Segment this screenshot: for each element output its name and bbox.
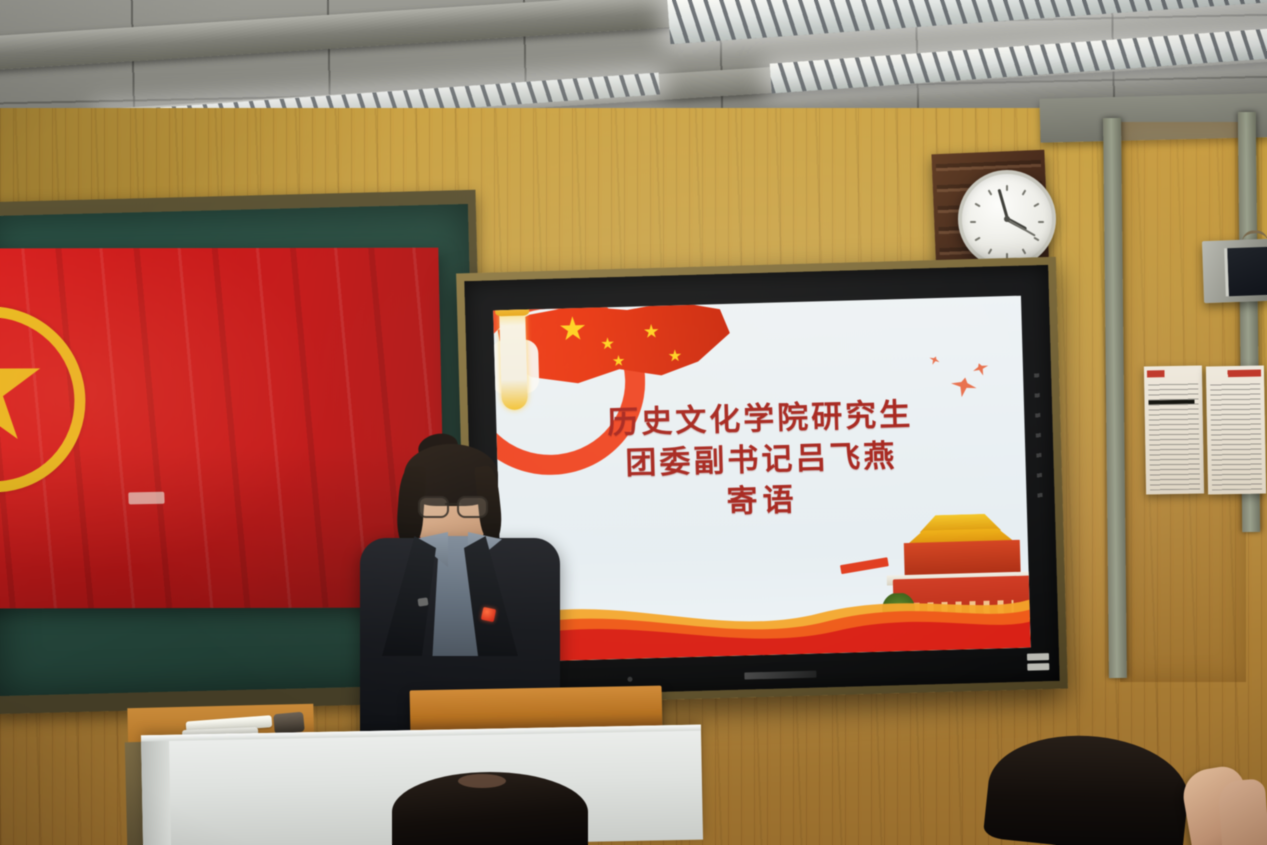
presentation-slide: 历史文化学院研究生 团委副书记吕飞燕 寄语: [493, 296, 1031, 663]
glasses-lens-right: [457, 496, 488, 518]
clock-tick: [988, 189, 993, 195]
clock-tick: [1022, 248, 1027, 254]
dove-icon: [927, 354, 941, 367]
presenter-party-badge: [481, 607, 496, 622]
poster-header-banner: [1147, 370, 1199, 378]
display-control-buttons[interactable]: [1027, 653, 1050, 674]
display-side-indicators: [1034, 373, 1043, 503]
clock-tick: [974, 237, 980, 242]
display-button-2[interactable]: [1027, 663, 1049, 671]
notice-poster-left: [1144, 366, 1204, 495]
clock-tick: [1033, 203, 1039, 208]
speaker-grille: [1224, 247, 1267, 297]
red-ribbon-wave: [501, 566, 1031, 663]
poster-text-lines: [1210, 382, 1262, 491]
audience-head-center: [392, 772, 588, 845]
presenter-glasses: [418, 496, 488, 514]
presenter-pin-left: [417, 597, 428, 606]
clock-tick: [1038, 221, 1044, 223]
clock-tick: [974, 203, 980, 208]
clock-tick: [1006, 185, 1008, 191]
photograph-scene: 历史文化学院研究生 团委副书记吕飞燕 寄语: [0, 0, 1267, 845]
applauding-hand-front: [1218, 778, 1267, 845]
blackboard-eraser-icon: [273, 712, 305, 735]
poster-highlight-bar: [1148, 400, 1194, 405]
torch-icon: [499, 302, 528, 411]
display-brand-logo: [744, 671, 816, 680]
dove-icon: [971, 361, 990, 379]
wall-clock: [958, 170, 1056, 268]
podium-side-face: [141, 741, 171, 845]
glasses-lens-left: [418, 496, 449, 518]
wall-speaker: [1202, 239, 1267, 303]
display-button-1[interactable]: [1027, 653, 1049, 661]
torch-flame-cap: [495, 296, 530, 317]
clock-tick: [970, 221, 976, 223]
notice-poster-right: [1206, 366, 1266, 495]
flag-tape: [128, 492, 164, 505]
clock-center-pin: [1004, 216, 1010, 222]
clock-tick: [1033, 237, 1039, 242]
clock-tick: [988, 248, 993, 254]
poster-header-banner: [1209, 370, 1261, 378]
clock-tick: [1022, 189, 1027, 195]
poster-text-lines: [1148, 382, 1200, 491]
display-sensor-icon: [627, 677, 632, 682]
